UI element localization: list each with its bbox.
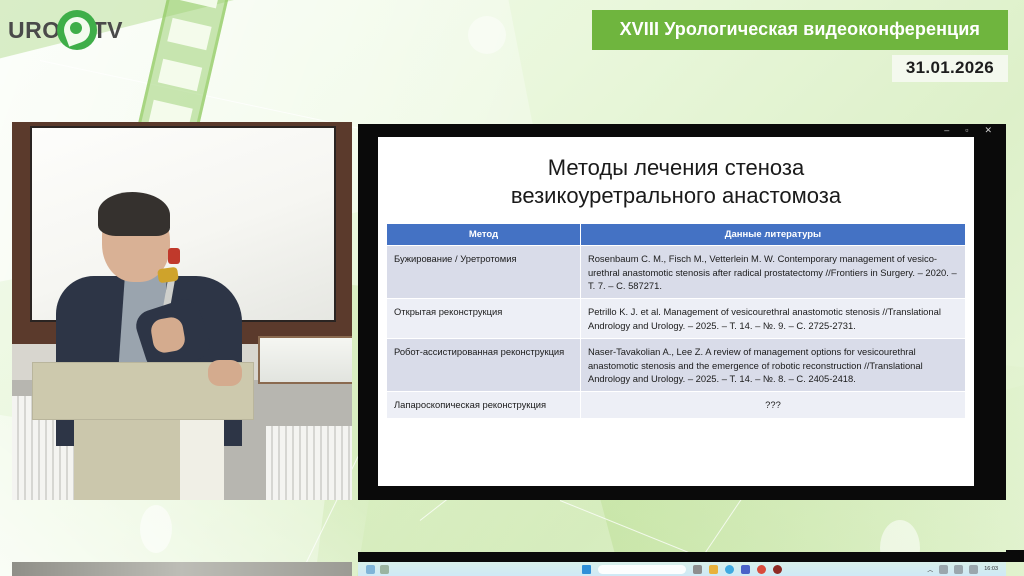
search-input[interactable] xyxy=(598,565,686,574)
windows-start-icon[interactable] xyxy=(582,565,591,574)
minimize-icon[interactable]: – xyxy=(944,126,949,135)
presentation-slide: Методы лечения стеноза везикоуретральног… xyxy=(378,137,974,486)
background-blob xyxy=(140,505,172,553)
speaker-video-tile[interactable] xyxy=(12,122,352,500)
cell-reference: Rosenbaum C. M., Fisch M., Vetterlein M.… xyxy=(580,246,965,299)
table-row: Робот-ассистированная реконструкция Nase… xyxy=(387,339,966,392)
share-window-bottom-edge xyxy=(358,552,1006,562)
window-titlebar: – ▫ ✕ xyxy=(358,124,1006,136)
taskbar-center-icons xyxy=(582,565,782,574)
conference-title-banner: XVIII Урологическая видеоконференция xyxy=(592,10,1008,50)
app-dark-red-icon[interactable] xyxy=(773,565,782,574)
cell-reference: Naser-Tavakolian A., Lee Z. A review of … xyxy=(580,339,965,392)
cell-reference: Petrillo K. J. et al. Management of vesi… xyxy=(580,299,965,339)
speaker-lapel-badge xyxy=(168,248,180,264)
file-explorer-icon[interactable] xyxy=(380,565,389,574)
column-header-method: Метод xyxy=(387,224,581,246)
table-row: Лапароскопическая реконструкция ??? xyxy=(387,392,966,418)
slide-title: Методы лечения стеноза везикоуретральног… xyxy=(406,154,946,209)
table-row: Открытая реконструкция Petrillo K. J. et… xyxy=(387,299,966,339)
literature-table: Метод Данные литературы Бужирование / Ур… xyxy=(386,223,966,418)
taskbar-left-icons xyxy=(358,565,389,574)
slide-title-line-2: везикоуретрального анастомоза xyxy=(406,182,946,210)
folder-icon[interactable] xyxy=(366,565,375,574)
taskbar-clock[interactable]: 16:03 xyxy=(984,566,998,572)
slide-title-line-1: Методы лечения стеноза xyxy=(406,154,946,182)
battery-icon[interactable] xyxy=(969,565,978,574)
broadcast-stage: URO TV XVIII Урологическая видеоконферен… xyxy=(0,0,1024,576)
speaker-hand-on-podium xyxy=(208,360,242,386)
cell-method: Бужирование / Уретротомия xyxy=(387,246,581,299)
network-icon[interactable] xyxy=(939,565,948,574)
cell-method: Лапароскопическая реконструкция xyxy=(387,392,581,418)
taskbar-system-tray: ︿ 16:03 xyxy=(927,565,998,574)
edge-icon[interactable] xyxy=(725,565,734,574)
brand-name-left: URO xyxy=(8,19,61,42)
podium-side xyxy=(180,414,224,500)
chevron-up-icon[interactable]: ︿ xyxy=(927,565,933,574)
background-blob xyxy=(468,16,506,54)
cell-method: Открытая реконструкция xyxy=(387,299,581,339)
teams-icon[interactable] xyxy=(741,565,750,574)
table-row: Бужирование / Уретротомия Rosenbaum C. M… xyxy=(387,246,966,299)
video-tile-bottom-edge xyxy=(12,562,352,576)
cell-reference: ??? xyxy=(580,392,965,418)
room-window xyxy=(258,336,352,384)
windows-taskbar[interactable]: ︿ 16:03 xyxy=(358,562,1006,576)
app-red-icon[interactable] xyxy=(757,565,766,574)
podium-body xyxy=(74,414,196,500)
brand-logo: URO TV xyxy=(8,8,123,52)
maximize-icon[interactable]: ▫ xyxy=(965,126,968,135)
brand-name-right: TV xyxy=(93,19,123,42)
table-header-row: Метод Данные литературы xyxy=(387,224,966,246)
screen-share-window[interactable]: – ▫ ✕ Методы лечения стеноза везикоуретр… xyxy=(358,124,1006,500)
cell-method: Робот-ассистированная реконструкция xyxy=(387,339,581,392)
close-icon[interactable]: ✕ xyxy=(984,126,992,135)
uro-tv-leaf-circle-icon xyxy=(57,10,97,50)
volume-icon[interactable] xyxy=(954,565,963,574)
column-header-literature: Данные литературы xyxy=(580,224,965,246)
task-view-icon[interactable] xyxy=(693,565,702,574)
radiator-right xyxy=(266,426,352,500)
share-window-corner xyxy=(1006,550,1024,562)
folder-icon[interactable] xyxy=(709,565,718,574)
microphone-head-icon xyxy=(157,267,179,284)
conference-date-badge: 31.01.2026 xyxy=(892,55,1008,82)
speaker-hair xyxy=(98,192,170,236)
